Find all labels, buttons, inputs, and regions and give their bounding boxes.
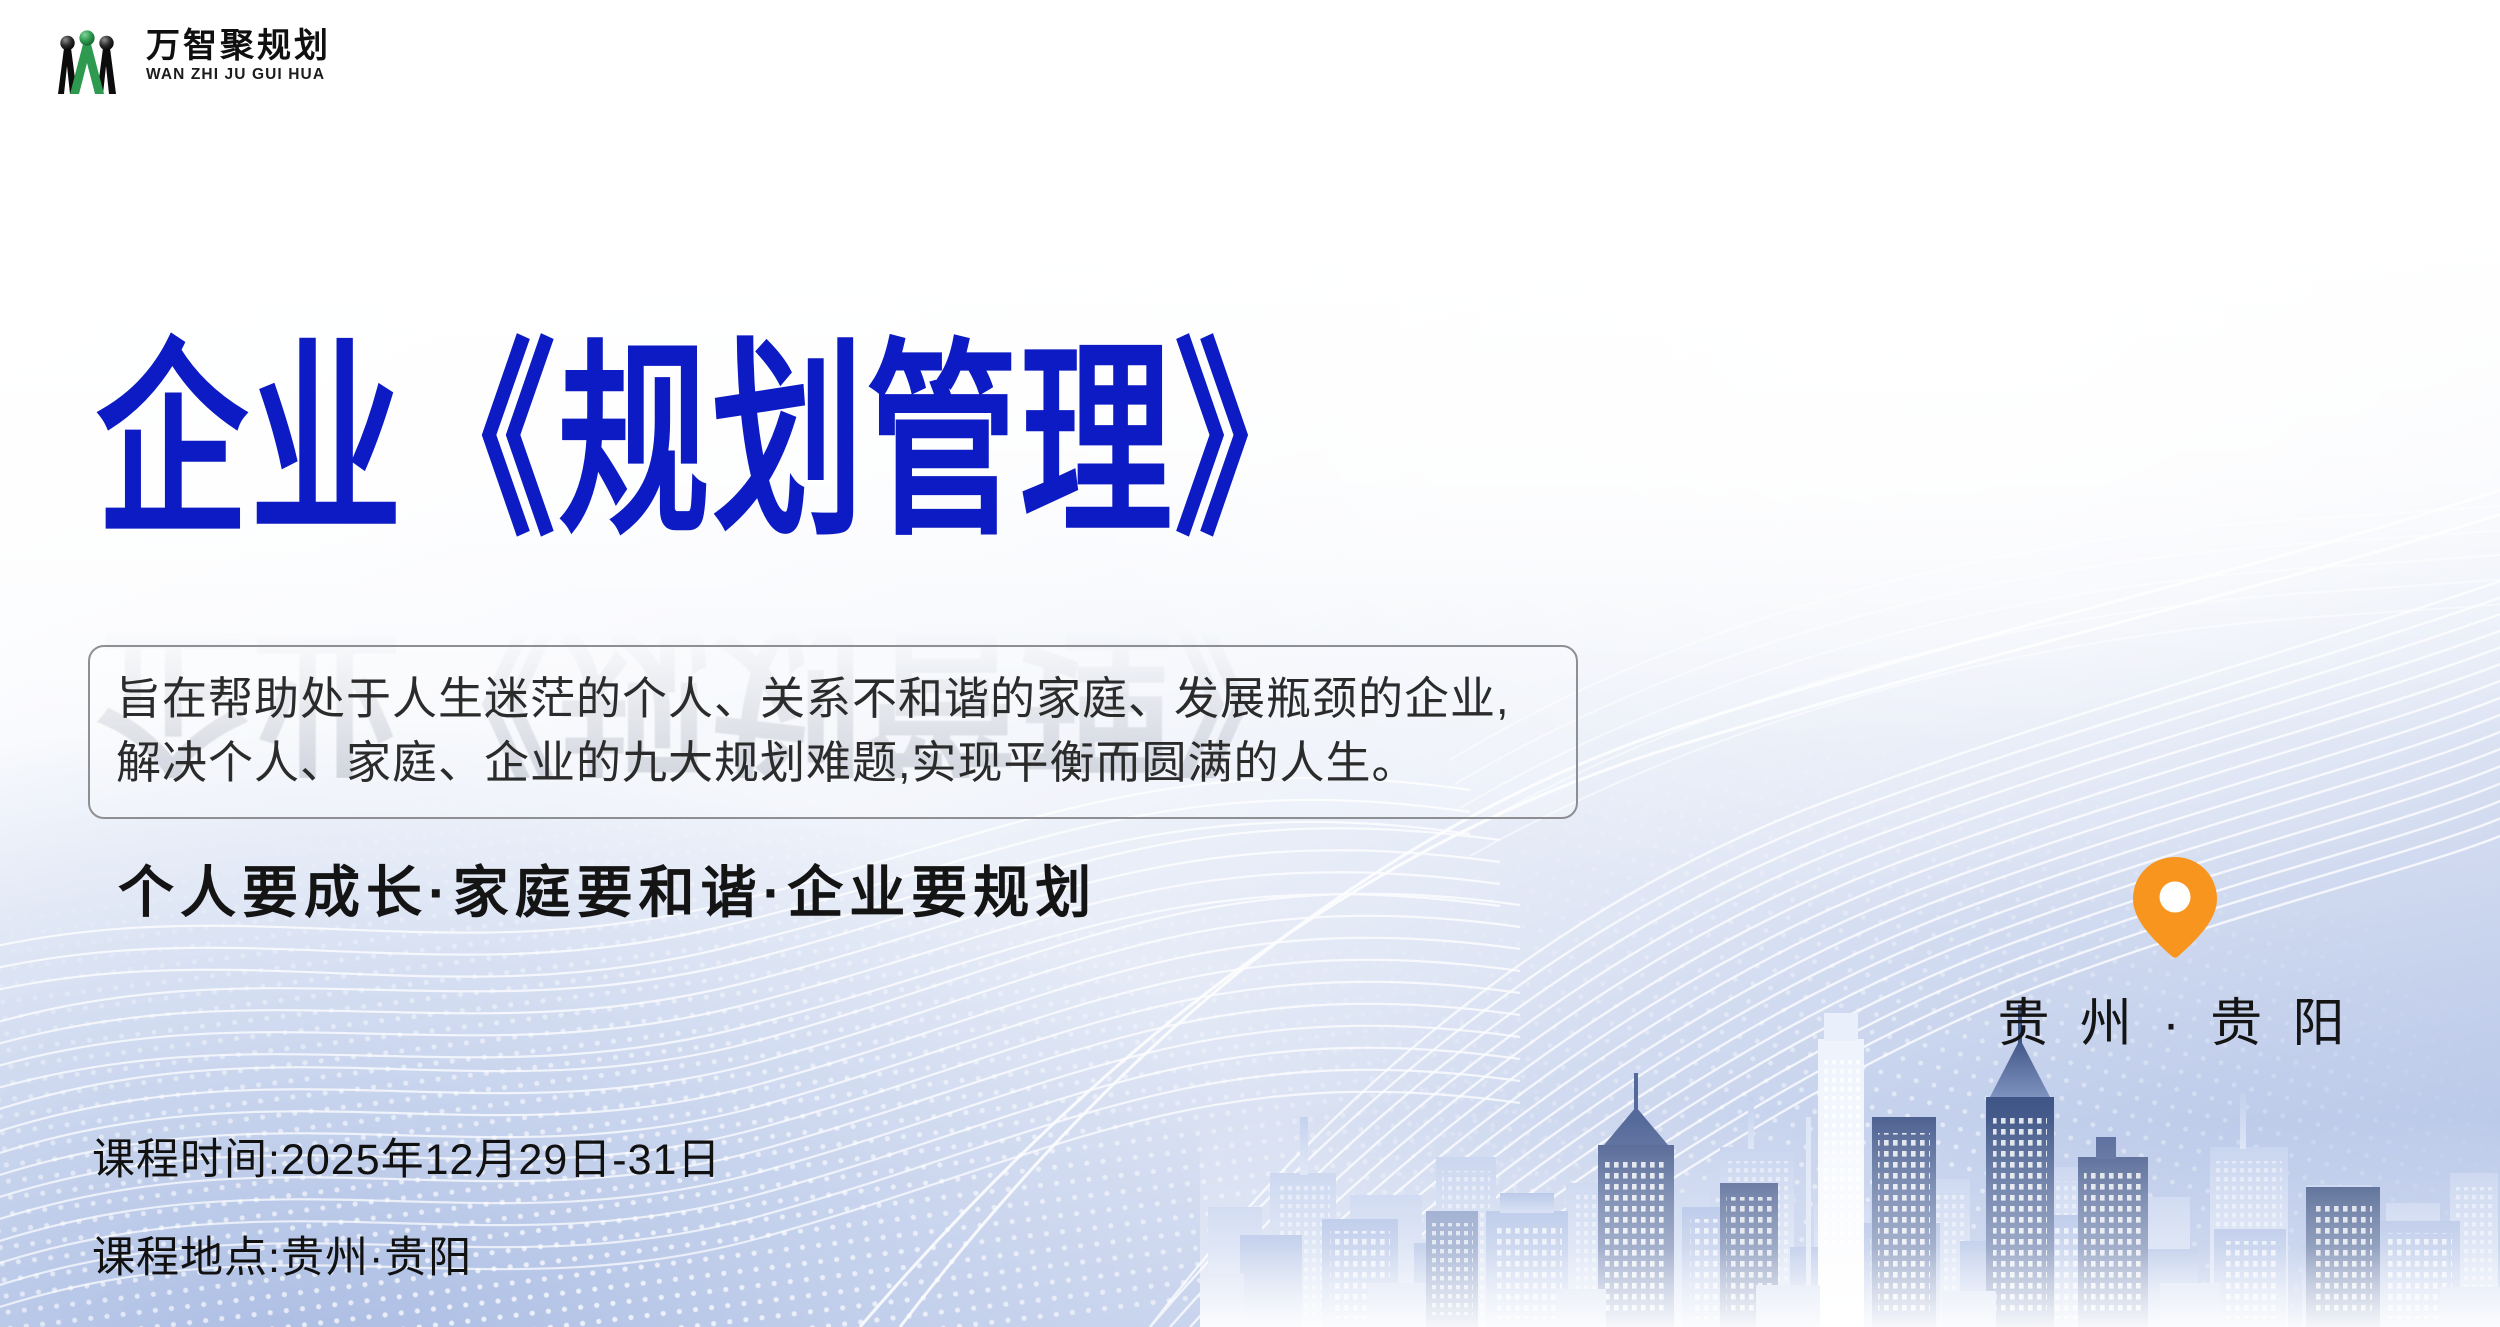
hero-title-block: 企业《规划管理》 企业《规划管理》 bbox=[96, 338, 1328, 490]
description-box: 旨在帮助处于人生迷茫的个人、关系不和谐的家庭、发展瓶颈的企业, 解决个人、家庭、… bbox=[88, 645, 1578, 819]
page-title: 企业《规划管理》 bbox=[96, 338, 1328, 548]
poster-canvas: 万智聚规划 WAN ZHI JU GUI HUA 企业《规划管理》 企业《规划管… bbox=[0, 0, 2500, 1327]
three-people-logo-icon bbox=[44, 18, 130, 94]
location-badge: 贵 州 · 贵 阳 bbox=[1955, 855, 2395, 1056]
description-line-2: 解决个人、家庭、企业的九大规划难题,实现平衡而圆满的人生。 bbox=[116, 731, 1550, 795]
logo-name-cn: 万智聚规划 bbox=[146, 29, 331, 65]
description-line-1: 旨在帮助处于人生迷茫的个人、关系不和谐的家庭、发展瓶颈的企业, bbox=[116, 667, 1550, 731]
map-pin-icon bbox=[2129, 855, 2221, 959]
location-label: 贵 州 · 贵 阳 bbox=[1997, 981, 2352, 1056]
course-info-block: 课程时间:2025年12月29日-31日 课程地点:贵州·贵阳 bbox=[92, 1125, 721, 1285]
slogan-text: 个人要成长·家庭要和谐·企业要规划 bbox=[118, 848, 1097, 929]
course-time-row: 课程时间:2025年12月29日-31日 bbox=[92, 1125, 721, 1187]
logo-name-pinyin: WAN ZHI JU GUI HUA bbox=[146, 67, 325, 83]
course-place-row: 课程地点:贵州·贵阳 bbox=[92, 1223, 721, 1285]
brand-logo[interactable]: 万智聚规划 WAN ZHI JU GUI HUA bbox=[44, 18, 331, 94]
